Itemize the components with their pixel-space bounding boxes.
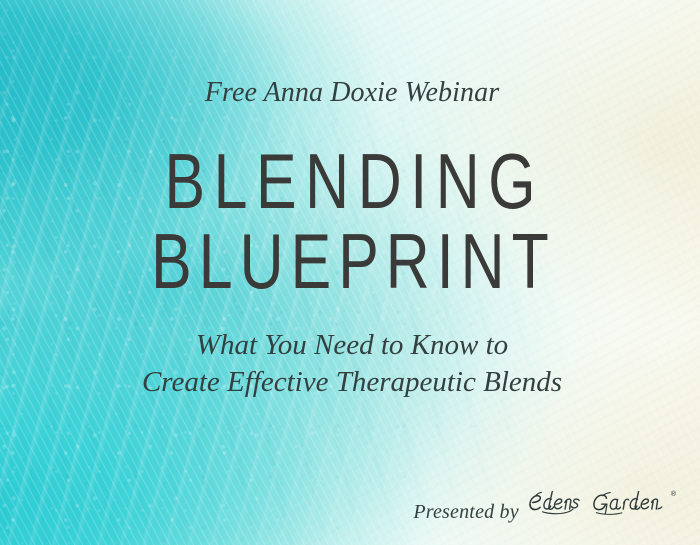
title-line-blueprint: BLUEPRINT — [77, 223, 623, 300]
presenter-credit: Presented by — [413, 488, 676, 522]
presented-by-label: Presented by — [413, 502, 519, 522]
registered-trademark-icon: ® — [671, 491, 676, 498]
title-line-blending: BLENDING — [77, 143, 623, 220]
poster-subtitle: What You Need to Know to Create Effectiv… — [2, 327, 700, 401]
subtitle-line-1: What You Need to Know to — [2, 327, 700, 364]
webinar-promo-poster: Free Anna Doxie Webinar BLENDING BLUEPRI… — [0, 0, 700, 545]
poster-title: BLENDING BLUEPRINT — [0, 143, 700, 300]
poster-copy: Free Anna Doxie Webinar BLENDING BLUEPRI… — [0, 0, 700, 545]
webinar-kicker: Free Anna Doxie Webinar — [2, 78, 700, 109]
edens-garden-wordmark-icon — [528, 488, 670, 518]
subtitle-line-2: Create Effective Therapeutic Blends — [2, 364, 700, 401]
edens-garden-logo: ® — [528, 488, 676, 518]
